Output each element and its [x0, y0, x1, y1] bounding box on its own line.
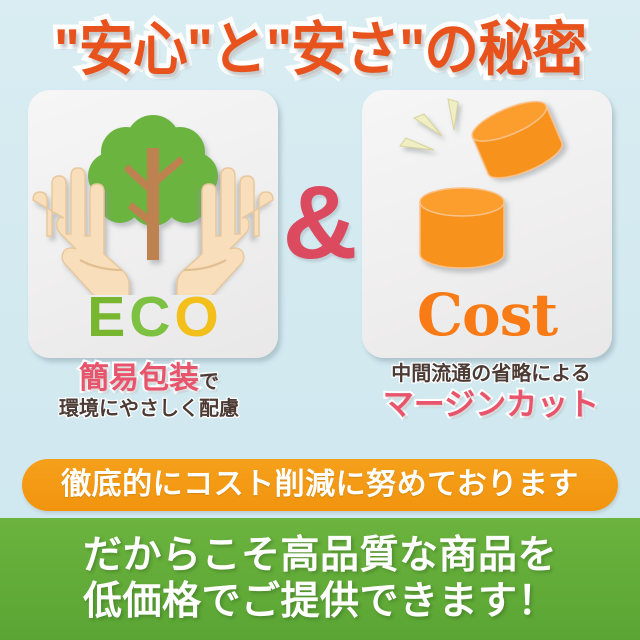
eco-caption-headline-suffix: で — [199, 371, 219, 393]
cost-card: Cost — [362, 90, 612, 358]
cost-caption-sub: 中間流通の省略による — [350, 362, 632, 386]
eco-caption-headline: 簡易包装で — [8, 362, 290, 396]
cost-reduction-banner: 徹底的にコスト削減に努めております — [22, 459, 618, 511]
eco-caption-sub: 環境にやさしく配慮 — [8, 397, 290, 421]
stacked-coins-icon — [362, 90, 612, 290]
eco-letter-e: E — [87, 289, 125, 346]
footer-message-block: だからこそ高品質な商品を 低価格でご提供できます！ — [0, 518, 640, 640]
eco-caption: 簡易包装で 環境にやさしく配慮 — [8, 362, 290, 421]
footer-line-2: 低価格でご提供できます！ — [83, 581, 557, 623]
cost-reduction-banner-text: 徹底的にコスト削減に努めております — [61, 470, 579, 500]
promo-banner: "安心"と"安さ"の秘密 — [0, 0, 640, 640]
hands-holding-tree-icon — [28, 90, 278, 295]
cost-wordmark: Cost — [362, 282, 612, 348]
ampersand-separator: & — [268, 163, 372, 283]
cost-caption: 中間流通の省略による マージンカット — [350, 362, 632, 423]
eco-wordmark: E C O — [28, 286, 278, 348]
eco-letter-c: C — [129, 289, 170, 346]
eco-caption-headline-main: 簡易包装 — [79, 362, 199, 395]
footer-line-1: だからこそ高品質な商品を — [83, 535, 557, 577]
banner-title: "安心"と"安さ"の秘密 — [54, 2, 586, 87]
cost-caption-headline: マージンカット — [350, 388, 632, 423]
banner-title-area: "安心"と"安さ"の秘密 — [0, 6, 640, 82]
eco-card: E C O — [28, 90, 278, 358]
eco-letter-o: O — [174, 289, 218, 346]
